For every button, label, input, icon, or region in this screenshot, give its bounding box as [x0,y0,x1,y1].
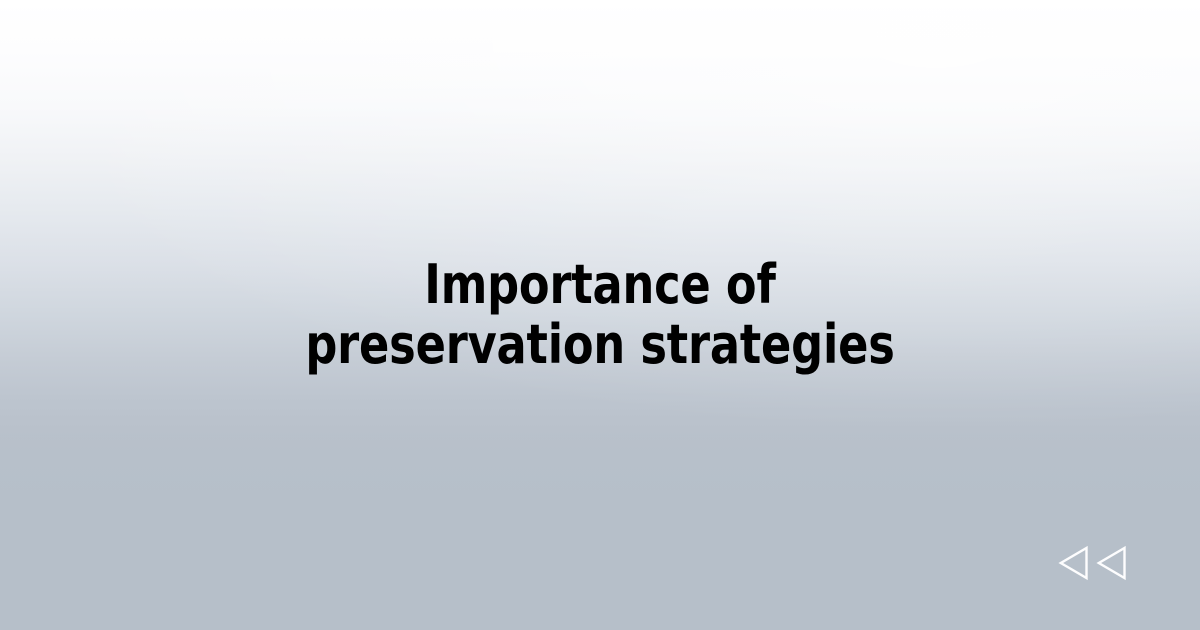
rewind-icon [1059,546,1088,580]
page-title: Importance of preservation strategies [278,255,922,376]
slide-canvas: Importance of preservation strategies [0,0,1200,630]
previous-button-first[interactable] [1059,546,1088,580]
rewind-icon [1097,546,1126,580]
previous-button-second[interactable] [1097,546,1126,580]
navigation-controls [1059,546,1126,580]
title-block: Importance of preservation strategies [0,0,1200,630]
